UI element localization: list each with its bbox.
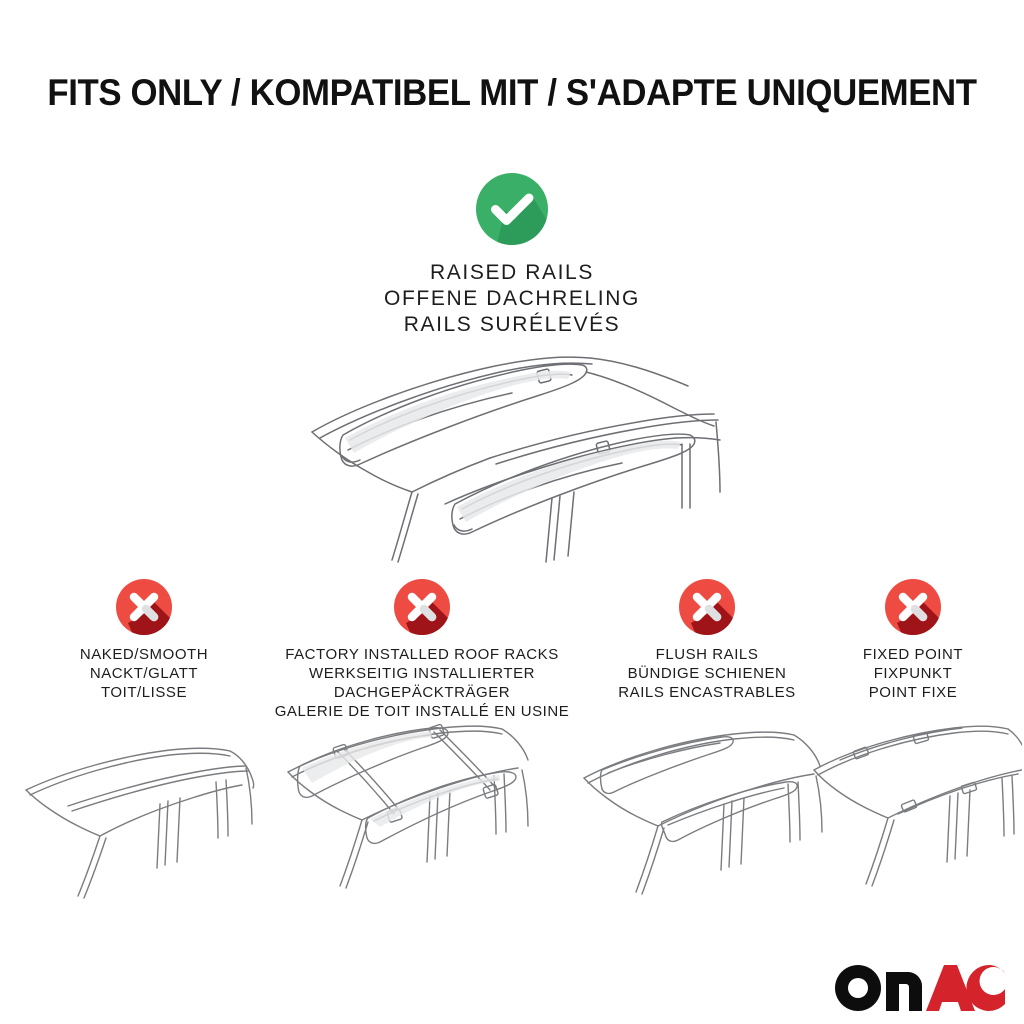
caption-line-fr: GALERIE DE TOIT INSTALLÉ EN USINE bbox=[272, 702, 572, 721]
caption-line-fr: POINT FIXE bbox=[820, 683, 1006, 702]
fitment-infographic: FITS ONLY / KOMPATIBEL MIT / S'ADAPTE UN… bbox=[0, 0, 1024, 1024]
car-roof-fixed-point-illustration bbox=[806, 722, 1022, 904]
red-x-circle-icon bbox=[884, 578, 942, 636]
incompatible-section: NAKED/SMOOTH NACKT/GLATT TOIT/LISSE bbox=[0, 578, 1024, 718]
caption-line-de: NACKT/GLATT bbox=[18, 664, 270, 683]
green-check-circle-icon bbox=[475, 172, 549, 246]
compatible-caption: RAISED RAILS OFFENE DACHRELING RAILS SUR… bbox=[0, 260, 1024, 338]
caption-line-en: NAKED/SMOOTH bbox=[18, 645, 270, 664]
incompatible-item-flush-rails: FLUSH RAILS BÜNDIGE SCHIENEN RAILS ENCAS… bbox=[596, 578, 818, 702]
incompatible-item-factory-installed-roof-racks: FACTORY INSTALLED ROOF RACKS WERKSEITIG … bbox=[272, 578, 572, 721]
caption-line-de: BÜNDIGE SCHIENEN bbox=[596, 664, 818, 683]
incompatible-caption: FIXED POINT FIXPUNKT POINT FIXE bbox=[820, 645, 1006, 702]
compatible-line-de: OFFENE DACHRELING bbox=[0, 286, 1024, 312]
compatible-line-fr: RAILS SURÉLEVÉS bbox=[0, 312, 1024, 338]
caption-line-fr: TOIT/LISSE bbox=[18, 683, 270, 702]
incompatible-caption: FLUSH RAILS BÜNDIGE SCHIENEN RAILS ENCAS… bbox=[596, 645, 818, 702]
red-x-circle-icon bbox=[115, 578, 173, 636]
car-roof-with-raised-rails-illustration bbox=[290, 352, 740, 572]
caption-line-en: FIXED POINT bbox=[820, 645, 1006, 664]
omac-logo bbox=[834, 964, 1006, 1012]
compatible-section: RAISED RAILS OFFENE DACHRELING RAILS SUR… bbox=[0, 172, 1024, 338]
red-x-circle-icon bbox=[678, 578, 736, 636]
caption-line-en: FACTORY INSTALLED ROOF RACKS bbox=[272, 645, 572, 664]
caption-line-de-2: DACHGEPÄCKTRÄGER bbox=[272, 683, 572, 702]
incompatible-item-naked-smooth: NAKED/SMOOTH NACKT/GLATT TOIT/LISSE bbox=[18, 578, 270, 702]
caption-line-en: FLUSH RAILS bbox=[596, 645, 818, 664]
logo-letter-m bbox=[886, 972, 922, 1011]
caption-line-fr: RAILS ENCASTRABLES bbox=[596, 683, 818, 702]
car-roof-factory-roof-racks-illustration bbox=[282, 722, 572, 904]
incompatible-caption: NAKED/SMOOTH NACKT/GLATT TOIT/LISSE bbox=[18, 645, 270, 702]
page-title: FITS ONLY / KOMPATIBEL MIT / S'ADAPTE UN… bbox=[31, 72, 994, 114]
red-x-circle-icon bbox=[393, 578, 451, 636]
car-roof-naked-smooth-illustration bbox=[2, 738, 264, 904]
incompatible-item-fixed-point: FIXED POINT FIXPUNKT POINT FIXE bbox=[820, 578, 1006, 702]
incompatible-caption: FACTORY INSTALLED ROOF RACKS WERKSEITIG … bbox=[272, 645, 572, 721]
logo-letter-o bbox=[835, 965, 881, 1011]
caption-line-de-1: WERKSEITIG INSTALLIERTER bbox=[272, 664, 572, 683]
compatible-line-en: RAISED RAILS bbox=[0, 260, 1024, 286]
caption-line-de: FIXPUNKT bbox=[820, 664, 1006, 683]
